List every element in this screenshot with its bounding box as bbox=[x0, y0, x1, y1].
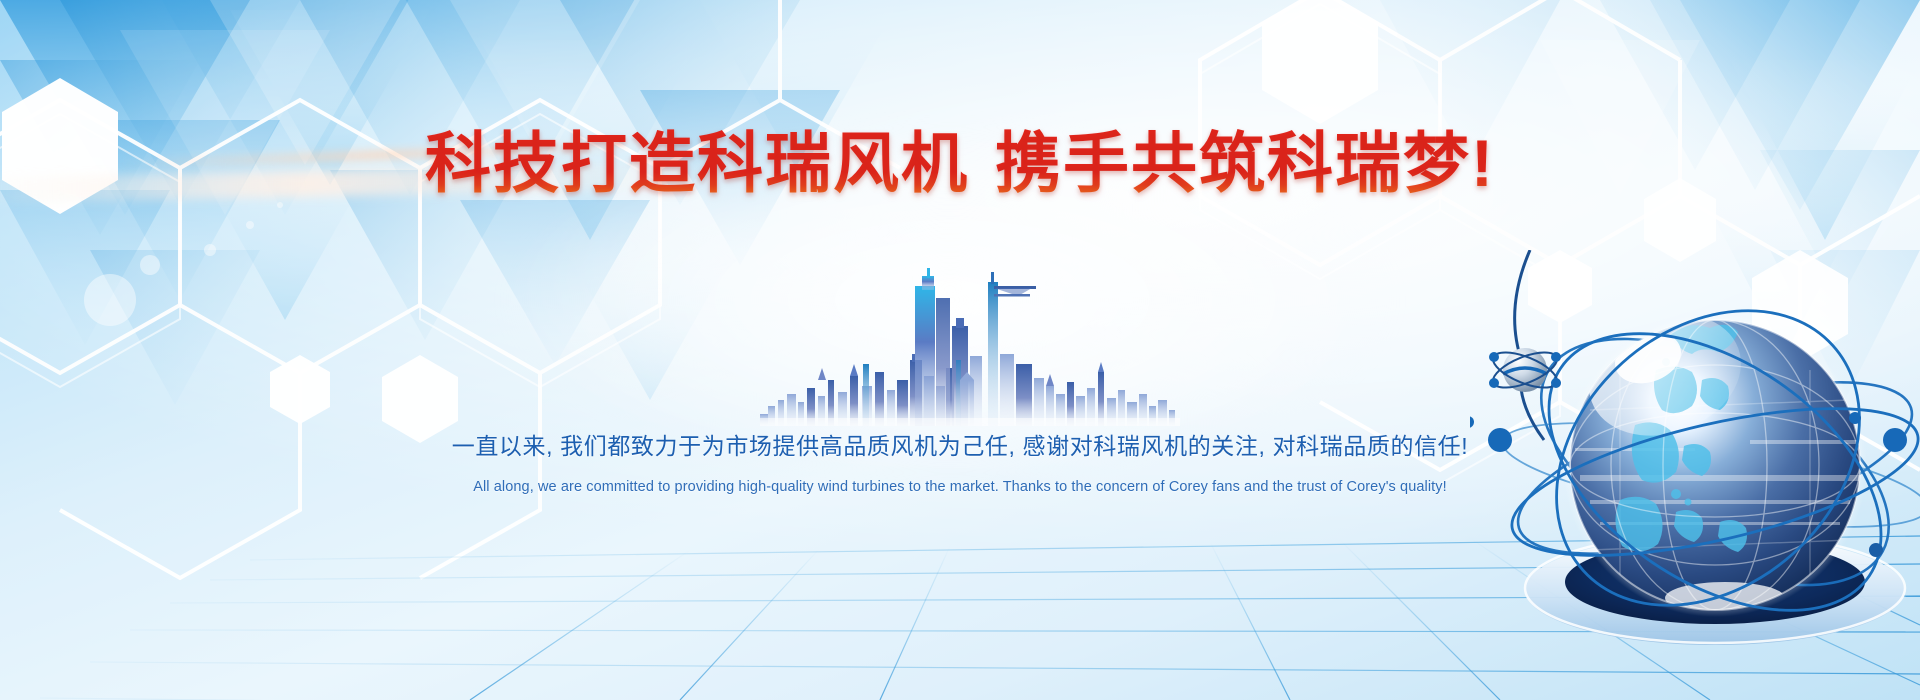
city-skyline-graphic bbox=[760, 268, 1180, 426]
promo-banner: 科技打造科瑞风机携手共筑科瑞梦! 一直以来, 我们都致力于为市场提供高品质风机为… bbox=[0, 0, 1920, 700]
glass-globe-graphic bbox=[1470, 250, 1920, 700]
glass-sphere bbox=[1563, 294, 1867, 617]
headline-segment-2: 携手共筑科瑞梦! bbox=[995, 126, 1495, 200]
headline-segment-1: 科技打造科瑞风机 bbox=[425, 126, 969, 200]
satellite-node-sphere bbox=[1489, 250, 1562, 440]
page-title: 科技打造科瑞风机携手共筑科瑞梦! bbox=[0, 126, 1920, 200]
